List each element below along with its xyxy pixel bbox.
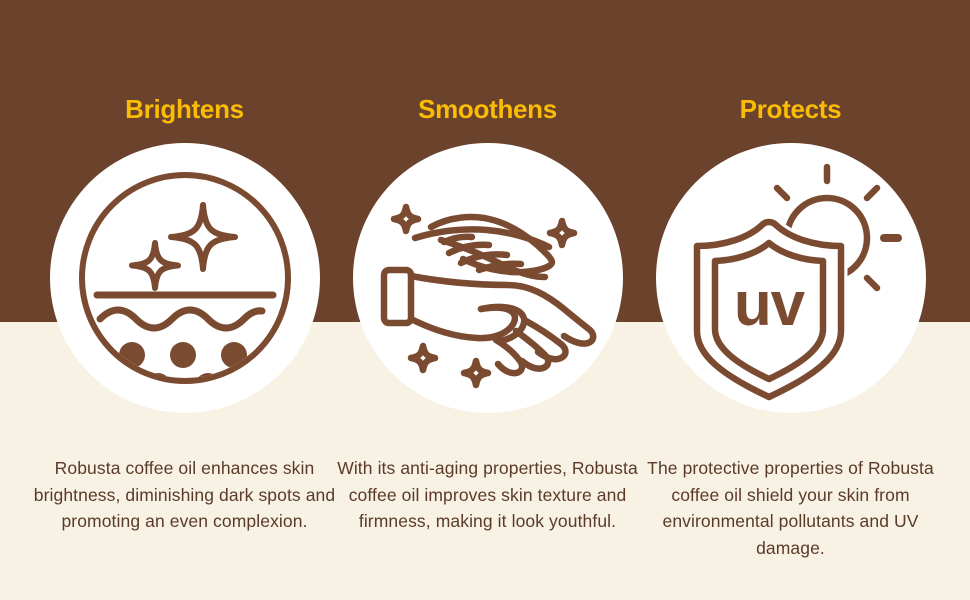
benefit-body-smoothens: With its anti-aging properties, Robusta … [332, 455, 643, 535]
skin-brightening-icon [50, 143, 320, 413]
benefit-body-brightens: Robusta coffee oil enhances skin brightn… [29, 455, 340, 535]
benefit-title-smoothens: Smoothens [326, 92, 649, 126]
benefit-icon-circle-brightens [50, 143, 320, 413]
benefits-poster: Brightens [0, 0, 970, 600]
benefit-column-protects: Protects [629, 0, 952, 600]
hands-feather-icon [353, 143, 623, 413]
benefit-column-smoothens: Smoothens [326, 0, 649, 600]
benefit-icon-circle-smoothens [353, 143, 623, 413]
benefit-title-brightens: Brightens [23, 92, 346, 126]
benefit-body-protects: The protective properties of Robusta cof… [635, 455, 946, 561]
uv-shield-sun-icon: uv [656, 143, 926, 413]
benefit-column-brightens: Brightens [23, 0, 346, 600]
benefit-icon-circle-protects: uv [656, 143, 926, 413]
uv-label: uv [734, 270, 806, 339]
benefit-title-protects: Protects [629, 92, 952, 126]
